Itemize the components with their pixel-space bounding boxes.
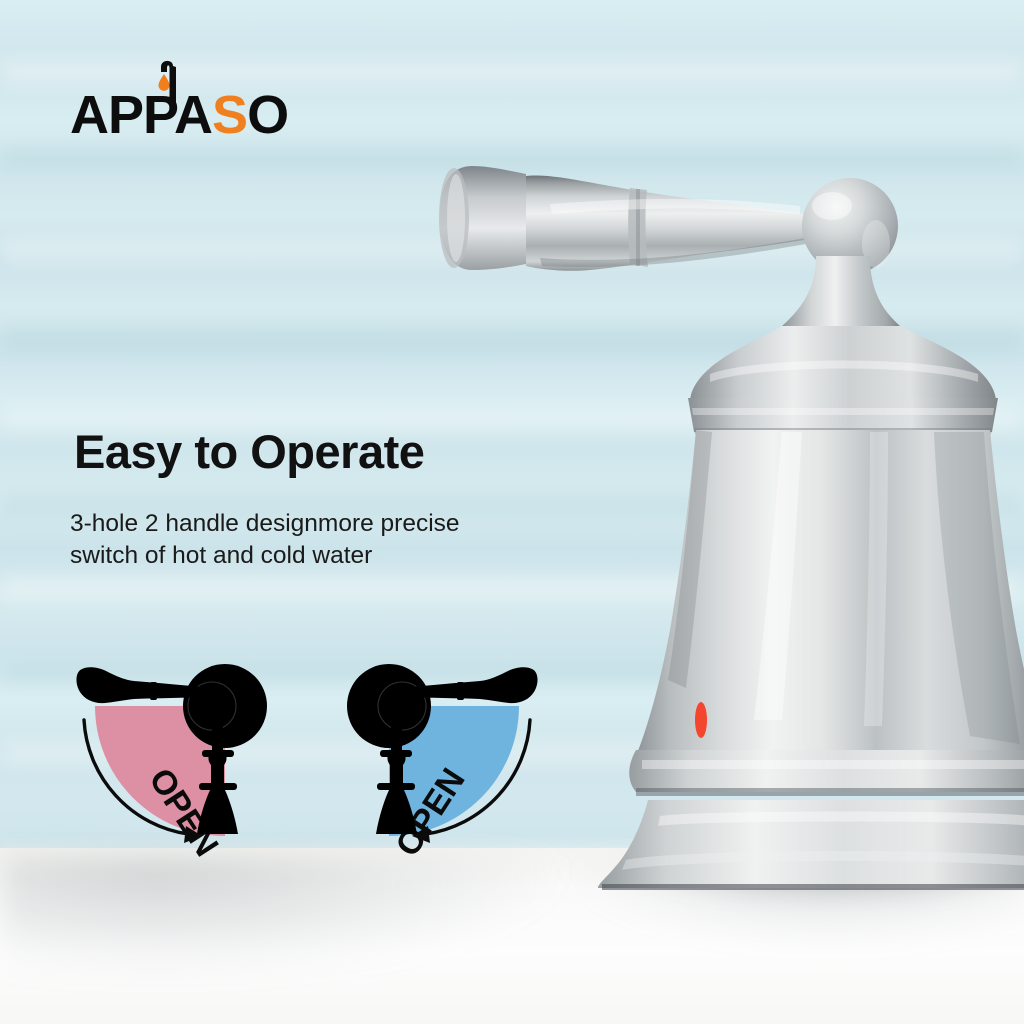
product-marketing-image: APPASO Easy to Operate 3-hole 2 handle d… bbox=[0, 0, 1024, 1024]
faucet-collar bbox=[688, 398, 998, 434]
brand-name-part3: O bbox=[247, 85, 288, 145]
brand-name-part1: APPA bbox=[70, 85, 212, 145]
faucet-lever bbox=[439, 166, 830, 271]
faucet-lower-ring bbox=[629, 750, 1024, 796]
hot-handle-diagram: OPEN bbox=[62, 638, 312, 868]
brand-name-accent: S bbox=[212, 85, 247, 145]
faucet-neck bbox=[782, 256, 900, 326]
subcopy-line-2: switch of hot and cold water bbox=[70, 542, 372, 569]
brand-logo: APPASO bbox=[70, 56, 370, 146]
brand-wordmark: APPASO bbox=[70, 88, 288, 142]
faucet-dome bbox=[690, 326, 996, 402]
faucet-body bbox=[636, 430, 1024, 756]
bathroom-faucet-handle bbox=[330, 160, 1024, 890]
escutcheon-hot bbox=[183, 664, 267, 748]
faucet-base-plate bbox=[598, 800, 1024, 890]
hot-indicator-dot bbox=[695, 702, 707, 738]
